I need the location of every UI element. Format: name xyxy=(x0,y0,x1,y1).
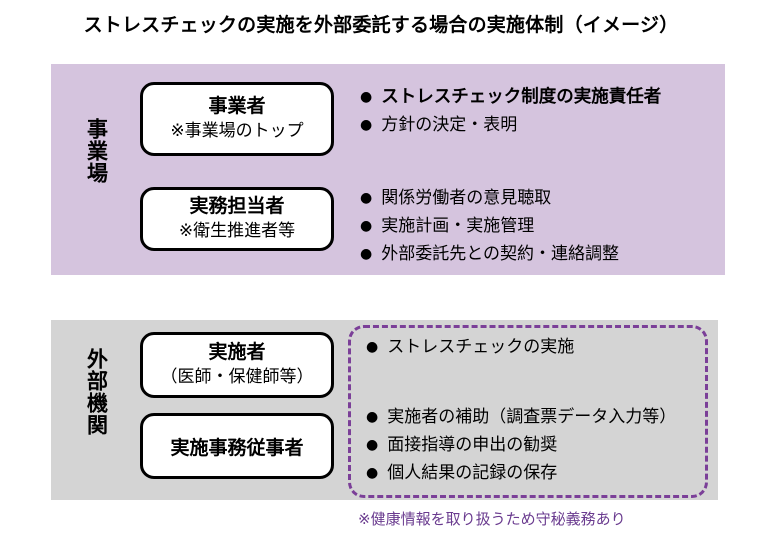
practical-officer-duties-list: ● 関係労働者の意見聴取 ● 実施計画・実施管理 ● 外部委託先との契約・連絡調… xyxy=(360,184,619,268)
list-item-label: 外部委託先との契約・連絡調整 xyxy=(381,240,619,268)
list-item: ● ストレスチェック制度の実施責任者 xyxy=(360,83,661,111)
list-item-label: 方針の決定・表明 xyxy=(381,111,517,139)
list-item: ● 外部委託先との契約・連絡調整 xyxy=(360,240,619,268)
external-organization-section-label: 外部機関 xyxy=(84,348,108,436)
role-box-employer: 事業者 ※事業場のトップ xyxy=(140,82,334,156)
bullet-icon: ● xyxy=(360,184,372,212)
list-item-label: 関係労働者の意見聴取 xyxy=(381,184,551,212)
bullet-icon: ● xyxy=(360,83,372,111)
role-subtitle-implementer: （医師・保健師等） xyxy=(161,367,314,388)
page-title: ストレスチェックの実施を外部委託する場合の実施体制（イメージ） xyxy=(0,10,762,37)
list-item-label: 実施者の補助（調査票データ入力等） xyxy=(387,403,676,431)
bullet-icon: ● xyxy=(360,212,372,240)
list-item-label: ストレスチェック制度の実施責任者 xyxy=(381,83,661,111)
list-item: ● 個人結果の記録の保存 xyxy=(366,459,676,487)
list-item-label: 個人結果の記録の保存 xyxy=(387,459,557,487)
list-item-label: 面接指導の申出の勧奨 xyxy=(387,431,557,459)
list-item: ● 面接指導の申出の勧奨 xyxy=(366,431,676,459)
role-title-implementer: 実施者 xyxy=(208,341,265,364)
role-subtitle-practical-officer: ※衛生推進者等 xyxy=(179,221,295,242)
role-box-implementer: 実施者 （医師・保健師等） xyxy=(140,332,334,398)
bullet-icon: ● xyxy=(366,403,378,431)
confidentiality-note: ※健康情報を取り扱うため守秘義務あり xyxy=(358,508,626,529)
employer-duties-list: ● ストレスチェック制度の実施責任者 ● 方針の決定・表明 xyxy=(360,83,661,139)
implementation-staff-duties-list: ● 実施者の補助（調査票データ入力等） ● 面接指導の申出の勧奨 ● 個人結果の… xyxy=(366,403,676,487)
list-item-label: ストレスチェックの実施 xyxy=(387,333,574,361)
role-subtitle-employer: ※事業場のトップ xyxy=(170,121,303,142)
bullet-icon: ● xyxy=(366,333,378,361)
bullet-icon: ● xyxy=(360,111,372,139)
list-item: ● 実施者の補助（調査票データ入力等） xyxy=(366,403,676,431)
bullet-icon: ● xyxy=(366,431,378,459)
role-title-practical-officer: 実務担当者 xyxy=(189,195,284,218)
role-title-implementation-staff: 実施事務従事者 xyxy=(170,433,303,460)
role-box-implementation-staff: 実施事務従事者 xyxy=(140,413,334,479)
bullet-icon: ● xyxy=(366,459,378,487)
role-box-practical-officer: 実務担当者 ※衛生推進者等 xyxy=(140,187,334,251)
role-title-employer: 事業者 xyxy=(208,95,265,118)
workplace-section-label: 事業場 xyxy=(84,118,108,184)
implementer-duties-list: ● ストレスチェックの実施 xyxy=(366,333,574,361)
list-item: ● 方針の決定・表明 xyxy=(360,111,661,139)
bullet-icon: ● xyxy=(360,240,372,268)
list-item: ● ストレスチェックの実施 xyxy=(366,333,574,361)
list-item-label: 実施計画・実施管理 xyxy=(381,212,534,240)
list-item: ● 関係労働者の意見聴取 xyxy=(360,184,619,212)
list-item: ● 実施計画・実施管理 xyxy=(360,212,619,240)
